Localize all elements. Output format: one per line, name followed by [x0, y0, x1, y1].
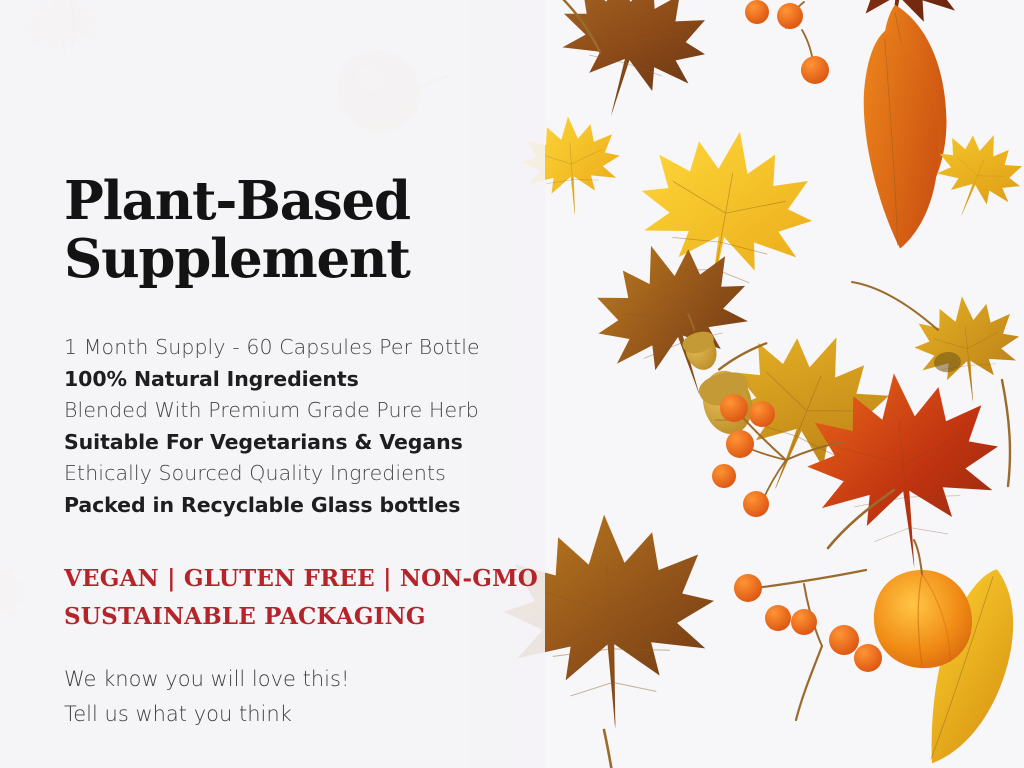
closing-line-2: Tell us what you think: [64, 697, 524, 732]
page-title: Plant-Based Supplement: [64, 172, 534, 289]
title-line-1: Plant-Based: [64, 170, 410, 232]
poster-text-column: Plant-Based Supplement 1 Month Supply - …: [0, 0, 545, 768]
claim-line-2: SUSTAINABLE PACKAGING: [64, 598, 544, 636]
feature-list: 1 Month Supply - 60 Capsules Per Bottle …: [64, 332, 544, 521]
feature-item-3: Blended With Premium Grade Pure Herb: [64, 395, 544, 427]
poster-canvas: Plant-Based Supplement 1 Month Supply - …: [0, 0, 1024, 768]
feature-item-4: Suitable For Vegetarians & Vegans: [64, 427, 544, 459]
closing-line-1: We know you will love this!: [64, 662, 524, 697]
claim-line-1: VEGAN | GLUTEN FREE | NON-GMO: [64, 560, 544, 598]
feature-item-2: 100% Natural Ingredients: [64, 364, 544, 396]
closing-message: We know you will love this! Tell us what…: [64, 662, 524, 732]
claims-block: VEGAN | GLUTEN FREE | NON-GMO SUSTAINABL…: [64, 560, 544, 636]
title-line-2: Supplement: [64, 230, 534, 288]
feature-item-1: 1 Month Supply - 60 Capsules Per Bottle: [64, 332, 544, 364]
feature-item-6: Packed in Recyclable Glass bottles: [64, 490, 544, 522]
feature-item-5: Ethically Sourced Quality Ingredients: [64, 458, 544, 490]
